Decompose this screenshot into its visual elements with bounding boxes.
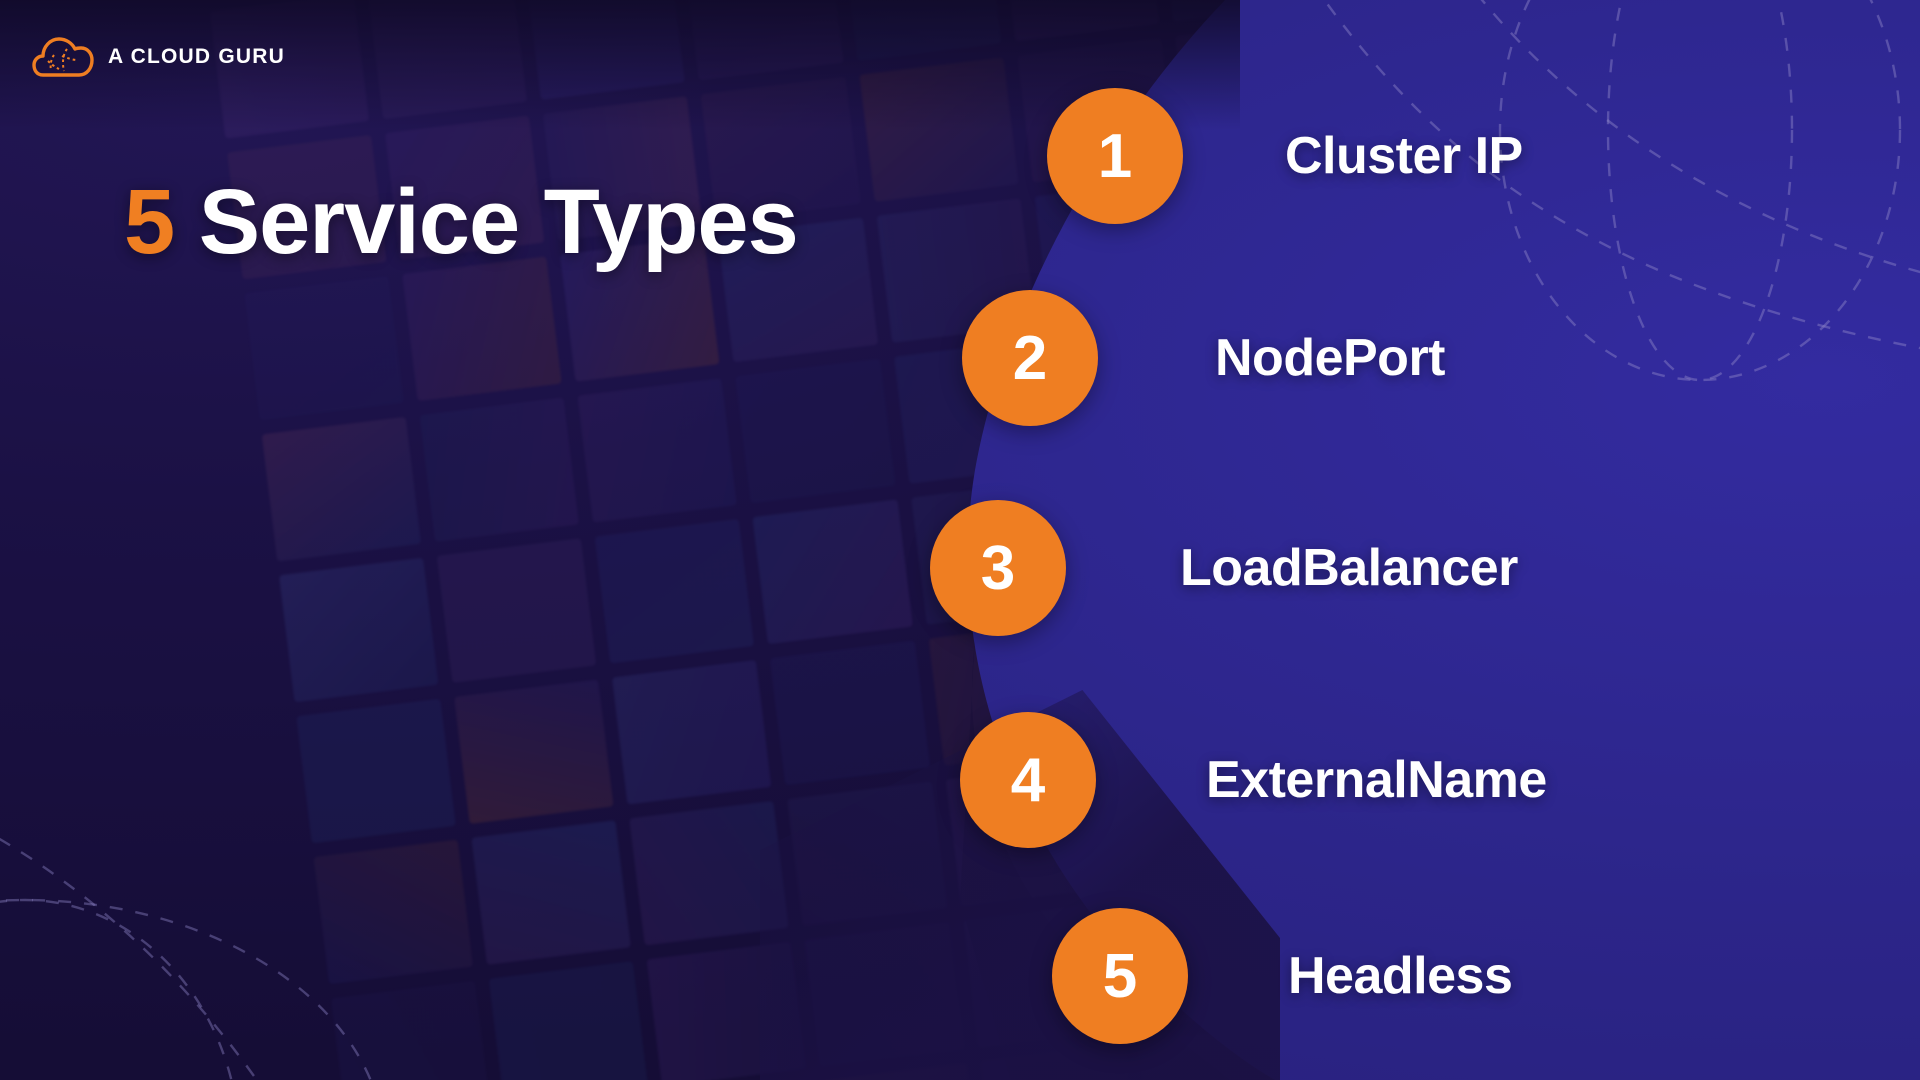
list-item[interactable]: 2 NodePort [962, 290, 1445, 426]
slide-canvas: A CLOUD GURU 5 Service Types 1 Cluster I… [0, 0, 1920, 1080]
service-types-list: 1 Cluster IP 2 NodePort 3 LoadBalancer 4… [0, 0, 1920, 1080]
list-item[interactable]: 1 Cluster IP [1047, 88, 1523, 224]
service-type-label: LoadBalancer [1180, 538, 1518, 598]
step-number-badge: 1 [1047, 88, 1183, 224]
list-item[interactable]: 5 Headless [1052, 908, 1512, 1044]
step-number-badge: 2 [962, 290, 1098, 426]
list-item[interactable]: 3 LoadBalancer [930, 500, 1518, 636]
list-item[interactable]: 4 ExternalName [960, 712, 1547, 848]
service-type-label: NodePort [1215, 328, 1445, 388]
step-number-badge: 3 [930, 500, 1066, 636]
service-type-label: Cluster IP [1285, 126, 1523, 186]
step-number-badge: 4 [960, 712, 1096, 848]
service-type-label: Headless [1288, 946, 1512, 1006]
service-type-label: ExternalName [1206, 750, 1547, 810]
step-number-badge: 5 [1052, 908, 1188, 1044]
